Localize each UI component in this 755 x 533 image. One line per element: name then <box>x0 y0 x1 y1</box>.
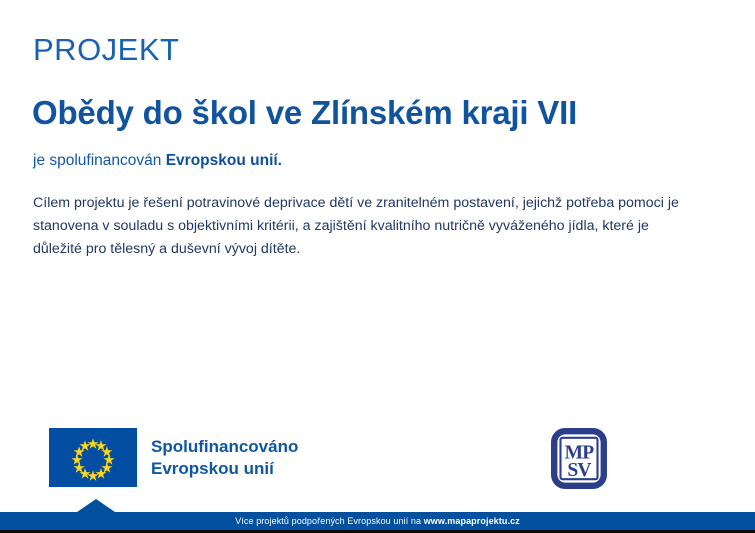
subtitle-bold-text: Evropskou unií. <box>166 152 282 169</box>
eu-funding-lockup: Spolufinancováno Evropskou unií <box>49 428 298 487</box>
body-paragraph: Cílem projektu je řešení potravinové dep… <box>33 192 693 261</box>
svg-text:SV: SV <box>567 460 591 481</box>
eu-funding-line-2: Evropskou unií <box>151 458 298 479</box>
page-subtitle: je spolufinancován Evropskou unií. <box>33 152 282 171</box>
eu-flag-icon <box>49 428 137 487</box>
footer-plain-text: Více projektů podpořených Evropskou unií… <box>235 516 424 526</box>
page-title: Obědy do škol ve Zlínském kraji VII <box>32 95 577 131</box>
mpsv-logo-icon: MP SV <box>551 428 607 489</box>
subtitle-plain-text: je spolufinancován <box>33 152 166 169</box>
footer-text: Více projektů podpořených Evropskou unií… <box>0 512 755 530</box>
eu-funding-line-1: Spolufinancováno <box>151 436 298 457</box>
poster-canvas: PROJEKT Obědy do škol ve Zlínském kraji … <box>0 0 755 533</box>
footer-url[interactable]: www.mapaprojektu.cz <box>424 516 520 526</box>
bottom-bar-notch <box>77 499 115 512</box>
page-kicker: PROJEKT <box>33 34 179 65</box>
eu-funding-text: Spolufinancováno Evropskou unií <box>151 436 298 479</box>
